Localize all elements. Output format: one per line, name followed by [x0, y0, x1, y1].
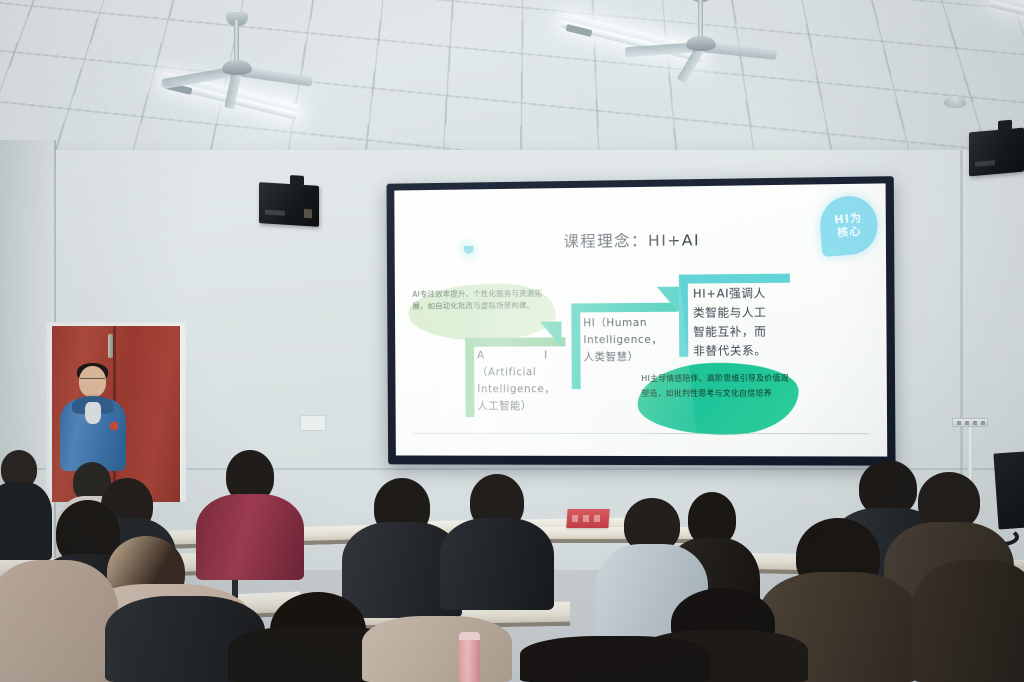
- block-hi-line2: Intelligence，: [583, 332, 695, 350]
- block-hiai-text: HI+AI强调人 类智能与人工 智能互补，而 非替代关系。: [693, 284, 803, 361]
- badge-line-2: 核心: [837, 224, 863, 239]
- block-ai-line2: （Artificial: [477, 364, 595, 381]
- fan-rod: [698, 0, 703, 40]
- speaker-bracket: [998, 120, 1012, 131]
- smoke-detector-icon: [944, 96, 966, 108]
- speaker-grille: [265, 210, 285, 216]
- note-right-text: HI主导情感陪伴、高阶思维引导及价值观塑造，如批判性思考与文化自信培养: [641, 371, 794, 401]
- block-hi-text: HI（Human Intelligence， 人类智慧）: [583, 315, 695, 367]
- torso: [912, 560, 1024, 682]
- arrow-triangle-icon: [540, 321, 562, 347]
- wall-speaker-right: [969, 128, 1024, 177]
- audience-member: [196, 450, 304, 580]
- door-handle[interactable]: [108, 334, 113, 358]
- torso: [362, 616, 512, 682]
- slide: 课程理念：HI+AI HI为 核心 AI专注效率提升、个性化服务与资源拓展，如自…: [394, 183, 887, 456]
- hi-core-pin-badge: HI为 核心: [818, 194, 880, 257]
- audience-member: [440, 474, 554, 610]
- block-ai-line4: 人工智能）: [477, 398, 595, 415]
- bottle-cap: [459, 632, 480, 640]
- audience-member: [912, 560, 1024, 682]
- classroom-scene: 课程理念：HI+AI HI为 核心 AI专注效率提升、个性化服务与资源拓展，如自…: [0, 0, 1024, 682]
- audience-member: [362, 616, 512, 682]
- torso: [440, 518, 554, 610]
- speaker-grille: [975, 160, 995, 167]
- glasses-icon: [80, 378, 105, 383]
- block-ai-letter-left: A: [477, 348, 485, 365]
- block-ai-letter-right: I: [544, 347, 548, 364]
- presenter-shirt: [85, 402, 101, 424]
- speaker-bracket: [290, 175, 304, 186]
- decorative-badge-icon: [456, 237, 482, 263]
- presenter: [58, 366, 128, 476]
- block-hiai-line3: 智能互补，而: [693, 322, 802, 342]
- block-hiai-line1: HI+AI强调人: [693, 284, 802, 304]
- torso-maroon-jacket: [196, 494, 304, 580]
- speaker-label: [304, 209, 312, 218]
- torso: [0, 560, 118, 682]
- wall-socket-panel[interactable]: [952, 418, 988, 427]
- slide-divider: [413, 433, 868, 434]
- screen-surface[interactable]: 课程理念：HI+AI HI为 核心 AI专注效率提升、个性化服务与资源拓展，如自…: [394, 183, 887, 456]
- slide-title: 课程理念：HI+AI: [518, 228, 748, 253]
- note-left-text: AI专注效率提升、个性化服务与资源拓展，如自动化批改与虚拟场景构建。: [412, 288, 557, 313]
- bracket-arm-horizontal: [679, 274, 790, 284]
- projection-screen[interactable]: 课程理念：HI+AI HI为 核心 AI专注效率提升、个性化服务与资源拓展，如自…: [386, 176, 895, 466]
- wall-speaker-left: [259, 182, 319, 227]
- block-ai-line3: Intelligence，: [477, 381, 595, 398]
- fan-hub: [686, 36, 716, 51]
- block-hiai-line2: 类智能与人工: [693, 303, 802, 323]
- jacket-logo: [110, 422, 118, 430]
- audience-member: [0, 560, 118, 682]
- block-hi-line3: 人类智慧）: [583, 349, 695, 366]
- block-hiai-line4: 非替代关系。: [693, 341, 802, 361]
- audience-member: [520, 636, 710, 682]
- wall-socket-mid[interactable]: [300, 415, 326, 431]
- block-hi-line1: HI（Human: [583, 315, 695, 333]
- block-ai-text: A I （Artificial Intelligence， 人工智能）: [477, 347, 596, 415]
- fan-hub: [222, 60, 252, 75]
- torso: [520, 636, 710, 682]
- arrow-triangle-icon: [657, 287, 679, 313]
- bracket-arm-vertical: [465, 338, 474, 417]
- fan-rod: [234, 20, 239, 64]
